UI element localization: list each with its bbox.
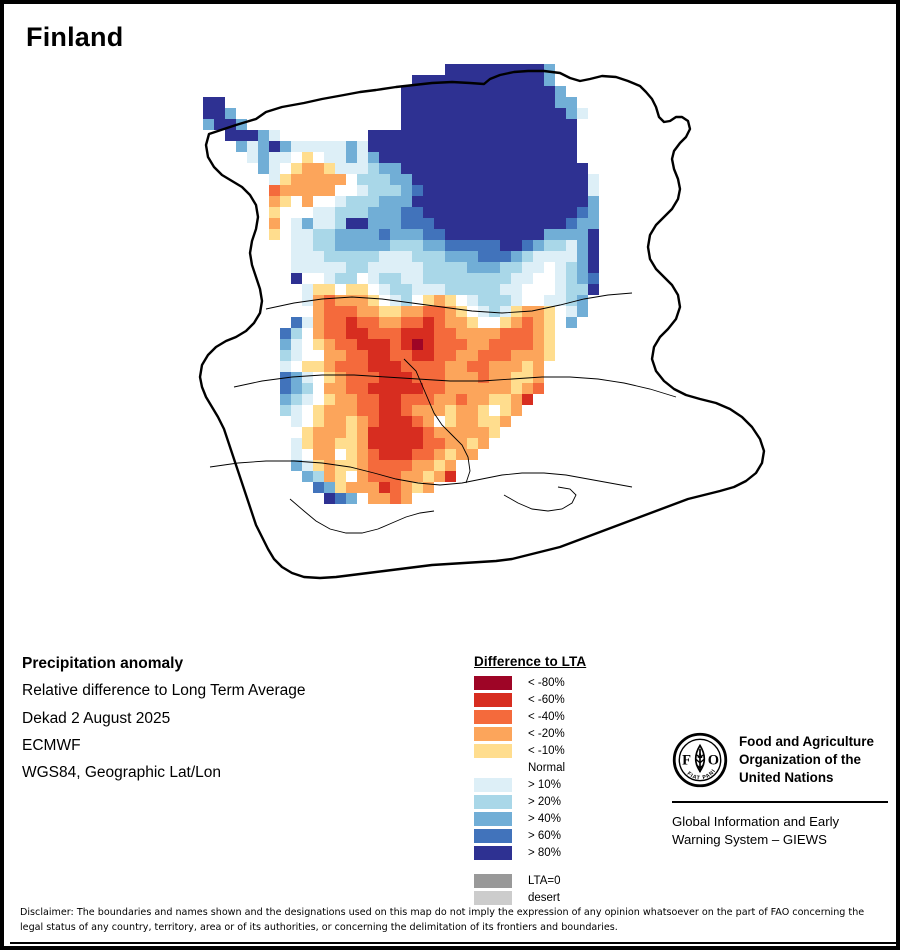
disclaimer-text: Disclaimer: The boundaries and names sho… bbox=[20, 906, 890, 935]
raster-cell bbox=[445, 75, 456, 86]
raster-cell bbox=[511, 152, 522, 163]
raster-cell bbox=[544, 130, 555, 141]
raster-cell bbox=[313, 383, 324, 394]
svg-text:A: A bbox=[697, 752, 703, 760]
raster-cell bbox=[390, 229, 401, 240]
raster-cell bbox=[379, 493, 390, 504]
raster-cell bbox=[511, 317, 522, 328]
raster-cell bbox=[423, 240, 434, 251]
raster-cell bbox=[335, 240, 346, 251]
raster-cell bbox=[456, 449, 467, 460]
raster-cell bbox=[324, 438, 335, 449]
raster-cell bbox=[434, 306, 445, 317]
raster-cell bbox=[324, 306, 335, 317]
legend-entry-swatch bbox=[474, 846, 512, 860]
raster-cell bbox=[313, 207, 324, 218]
raster-cell bbox=[445, 350, 456, 361]
raster-cell bbox=[401, 295, 412, 306]
raster-cell bbox=[368, 383, 379, 394]
raster-cell bbox=[313, 438, 324, 449]
raster-cell bbox=[423, 262, 434, 273]
raster-cell bbox=[280, 383, 291, 394]
raster-cell bbox=[467, 86, 478, 97]
raster-cell bbox=[445, 273, 456, 284]
raster-cell bbox=[445, 86, 456, 97]
raster-cell bbox=[544, 339, 555, 350]
raster-cell bbox=[302, 427, 313, 438]
raster-cell bbox=[379, 141, 390, 152]
raster-cell bbox=[478, 427, 489, 438]
raster-cell bbox=[555, 130, 566, 141]
raster-cell bbox=[401, 119, 412, 130]
raster-cell bbox=[291, 438, 302, 449]
raster-cell bbox=[401, 284, 412, 295]
raster-cell bbox=[291, 218, 302, 229]
raster-cell bbox=[335, 427, 346, 438]
raster-cell bbox=[390, 416, 401, 427]
raster-cell bbox=[291, 229, 302, 240]
raster-cell bbox=[346, 493, 357, 504]
raster-cell bbox=[434, 75, 445, 86]
raster-cell bbox=[379, 207, 390, 218]
raster-cell bbox=[302, 339, 313, 350]
raster-cell bbox=[412, 218, 423, 229]
raster-cell bbox=[544, 174, 555, 185]
raster-cell bbox=[500, 218, 511, 229]
raster-cell bbox=[555, 273, 566, 284]
raster-cell bbox=[401, 405, 412, 416]
raster-cell bbox=[357, 196, 368, 207]
raster-cell bbox=[412, 449, 423, 460]
legend-entry-row[interactable]: > 10% bbox=[474, 776, 634, 793]
raster-cell bbox=[280, 152, 291, 163]
raster-cell bbox=[291, 119, 302, 130]
legend-entry-label: < -80% bbox=[528, 677, 565, 689]
raster-cell bbox=[368, 460, 379, 471]
raster-cell bbox=[368, 394, 379, 405]
raster-cell bbox=[434, 174, 445, 185]
raster-cell bbox=[390, 130, 401, 141]
raster-cell bbox=[357, 240, 368, 251]
raster-cell bbox=[489, 251, 500, 262]
raster-cell bbox=[467, 251, 478, 262]
raster-cell bbox=[566, 317, 577, 328]
raster-cell bbox=[566, 152, 577, 163]
raster-cell bbox=[335, 295, 346, 306]
raster-cell bbox=[555, 240, 566, 251]
raster-cell bbox=[511, 405, 522, 416]
raster-cell bbox=[445, 218, 456, 229]
raster-cell bbox=[379, 460, 390, 471]
raster-cell bbox=[445, 229, 456, 240]
raster-cell bbox=[280, 185, 291, 196]
raster-cell bbox=[357, 273, 368, 284]
raster-cell bbox=[489, 229, 500, 240]
raster-cell bbox=[467, 108, 478, 119]
raster-cell bbox=[412, 273, 423, 284]
raster-cell bbox=[456, 130, 467, 141]
raster-cell bbox=[390, 317, 401, 328]
raster-cell bbox=[500, 295, 511, 306]
raster-cell bbox=[456, 438, 467, 449]
info-projection: WGS84, Geographic Lat/Lon bbox=[22, 765, 452, 781]
raster-cell bbox=[302, 152, 313, 163]
legend-entry-row[interactable]: > 20% bbox=[474, 793, 634, 810]
raster-cell bbox=[346, 284, 357, 295]
fao-org-line-1: Food and Agriculture bbox=[739, 733, 874, 751]
raster-cell bbox=[346, 482, 357, 493]
raster-cell bbox=[511, 119, 522, 130]
raster-cell bbox=[379, 185, 390, 196]
legend-entry-row[interactable]: < -40% bbox=[474, 708, 634, 725]
raster-cell bbox=[533, 262, 544, 273]
raster-cell bbox=[467, 350, 478, 361]
map-canvas[interactable] bbox=[4, 59, 900, 639]
raster-cell bbox=[511, 383, 522, 394]
raster-cell bbox=[412, 471, 423, 482]
raster-cell bbox=[368, 119, 379, 130]
raster-cell bbox=[401, 460, 412, 471]
raster-cell bbox=[500, 339, 511, 350]
raster-cell bbox=[511, 350, 522, 361]
raster-cell bbox=[390, 163, 401, 174]
raster-cell bbox=[544, 75, 555, 86]
raster-cell bbox=[423, 306, 434, 317]
raster-cell bbox=[324, 328, 335, 339]
raster-cell bbox=[379, 97, 390, 108]
raster-cell bbox=[258, 152, 269, 163]
raster-cell bbox=[456, 86, 467, 97]
raster-cell bbox=[544, 119, 555, 130]
raster-cell bbox=[412, 229, 423, 240]
legend-entry-row[interactable]: < -10% bbox=[474, 742, 634, 759]
legend-entry-row[interactable]: > 60% bbox=[474, 827, 634, 844]
legend-entry-row[interactable]: > 80% bbox=[474, 844, 634, 861]
raster-cell bbox=[533, 152, 544, 163]
raster-cell bbox=[412, 284, 423, 295]
raster-cell bbox=[357, 97, 368, 108]
raster-cell bbox=[368, 141, 379, 152]
raster-cell bbox=[302, 174, 313, 185]
raster-cell bbox=[456, 196, 467, 207]
raster-cell bbox=[434, 405, 445, 416]
raster-cell bbox=[346, 350, 357, 361]
raster-cell bbox=[269, 251, 280, 262]
raster-cell bbox=[489, 372, 500, 383]
raster-cell bbox=[236, 97, 247, 108]
raster-cell bbox=[489, 317, 500, 328]
raster-cell bbox=[335, 449, 346, 460]
raster-cell bbox=[379, 416, 390, 427]
raster-cell bbox=[357, 482, 368, 493]
raster-cell bbox=[467, 218, 478, 229]
info-source: ECMWF bbox=[22, 738, 452, 754]
raster-cell bbox=[412, 86, 423, 97]
raster-cell bbox=[555, 284, 566, 295]
raster-cell bbox=[478, 152, 489, 163]
raster-cell bbox=[357, 306, 368, 317]
raster-cell bbox=[412, 339, 423, 350]
raster-cell bbox=[533, 97, 544, 108]
raster-cell bbox=[379, 306, 390, 317]
raster-cell bbox=[533, 75, 544, 86]
raster-cell bbox=[478, 339, 489, 350]
raster-cell bbox=[478, 240, 489, 251]
raster-cell bbox=[258, 119, 269, 130]
raster-cell bbox=[302, 130, 313, 141]
raster-cell bbox=[258, 130, 269, 141]
raster-cell bbox=[456, 64, 467, 75]
raster-cell bbox=[291, 130, 302, 141]
raster-cell bbox=[544, 163, 555, 174]
raster-cell bbox=[445, 449, 456, 460]
raster-cell bbox=[511, 372, 522, 383]
raster-cell bbox=[390, 218, 401, 229]
fao-branding: F O A FIAT PANIS Food and Agriculture Or… bbox=[672, 732, 888, 849]
raster-cell bbox=[324, 152, 335, 163]
legend-entry-row[interactable]: Normal bbox=[474, 759, 634, 776]
legend-entry-row[interactable]: > 40% bbox=[474, 810, 634, 827]
raster-cell bbox=[544, 196, 555, 207]
raster-cell bbox=[555, 251, 566, 262]
raster-cell bbox=[346, 141, 357, 152]
legend-entry-label: Normal bbox=[528, 762, 565, 774]
raster-cell bbox=[467, 119, 478, 130]
raster-cell bbox=[555, 86, 566, 97]
raster-cell bbox=[445, 119, 456, 130]
raster-cell bbox=[412, 262, 423, 273]
legend-entry-row[interactable]: < -20% bbox=[474, 725, 634, 742]
raster-cell bbox=[423, 284, 434, 295]
raster-cell bbox=[280, 339, 291, 350]
raster-cell bbox=[390, 174, 401, 185]
raster-cell bbox=[467, 317, 478, 328]
raster-cell bbox=[533, 207, 544, 218]
raster-cell bbox=[412, 240, 423, 251]
raster-cell bbox=[467, 141, 478, 152]
info-heading: Precipitation anomaly bbox=[22, 656, 452, 672]
raster-cell bbox=[522, 262, 533, 273]
raster-cell bbox=[489, 416, 500, 427]
raster-cell bbox=[489, 185, 500, 196]
raster-cell bbox=[467, 174, 478, 185]
raster-cell bbox=[291, 416, 302, 427]
raster-cell bbox=[577, 251, 588, 262]
raster-cell bbox=[566, 207, 577, 218]
raster-cell bbox=[357, 141, 368, 152]
raster-cell bbox=[346, 119, 357, 130]
raster-cell bbox=[500, 317, 511, 328]
raster-cell bbox=[478, 229, 489, 240]
raster-cell bbox=[511, 295, 522, 306]
raster-cell bbox=[467, 284, 478, 295]
raster-cell bbox=[280, 174, 291, 185]
raster-cell bbox=[346, 130, 357, 141]
raster-cell bbox=[423, 328, 434, 339]
finland-anomaly-map[interactable] bbox=[4, 59, 900, 639]
raster-cell bbox=[346, 394, 357, 405]
raster-cell bbox=[500, 361, 511, 372]
raster-cell bbox=[445, 339, 456, 350]
raster-cell bbox=[368, 372, 379, 383]
raster-cell bbox=[434, 218, 445, 229]
raster-cell bbox=[324, 251, 335, 262]
page-title: Finland bbox=[26, 22, 123, 53]
raster-cell bbox=[335, 284, 346, 295]
raster-cell bbox=[456, 119, 467, 130]
raster-cell bbox=[500, 75, 511, 86]
raster-cell bbox=[357, 174, 368, 185]
legend-extra-list: LTA=0desert bbox=[474, 872, 634, 906]
raster-cell bbox=[291, 174, 302, 185]
raster-cell bbox=[368, 416, 379, 427]
raster-cell bbox=[423, 218, 434, 229]
raster-cell bbox=[423, 119, 434, 130]
raster-cell bbox=[324, 141, 335, 152]
raster-cell bbox=[522, 185, 533, 196]
raster-cell bbox=[456, 350, 467, 361]
raster-cell bbox=[577, 185, 588, 196]
raster-cell bbox=[302, 262, 313, 273]
raster-cell bbox=[335, 152, 346, 163]
legend-extra-row[interactable]: desert bbox=[474, 889, 634, 906]
raster-cell bbox=[533, 317, 544, 328]
raster-cell bbox=[302, 141, 313, 152]
raster-cell bbox=[324, 174, 335, 185]
raster-cell bbox=[368, 108, 379, 119]
raster-cell bbox=[368, 130, 379, 141]
raster-cell bbox=[478, 416, 489, 427]
legend-extra-row[interactable]: LTA=0 bbox=[474, 872, 634, 889]
raster-cell bbox=[357, 471, 368, 482]
raster-cell bbox=[555, 262, 566, 273]
raster-cell bbox=[522, 207, 533, 218]
raster-cell bbox=[368, 328, 379, 339]
raster-cell bbox=[511, 174, 522, 185]
raster-cell bbox=[544, 317, 555, 328]
raster-cell bbox=[357, 449, 368, 460]
raster-cell bbox=[335, 174, 346, 185]
raster-cell bbox=[291, 361, 302, 372]
raster-cell bbox=[478, 64, 489, 75]
raster-cell bbox=[313, 361, 324, 372]
raster-cell bbox=[489, 284, 500, 295]
legend-entry-label: < -40% bbox=[528, 711, 565, 723]
raster-cell bbox=[401, 361, 412, 372]
raster-cell bbox=[478, 383, 489, 394]
raster-cell bbox=[346, 405, 357, 416]
raster-cell bbox=[335, 339, 346, 350]
raster-cell bbox=[302, 471, 313, 482]
raster-cell bbox=[434, 427, 445, 438]
raster-cell bbox=[291, 339, 302, 350]
legend-entry-swatch bbox=[474, 693, 512, 707]
raster-cell bbox=[445, 97, 456, 108]
raster-cell bbox=[390, 471, 401, 482]
raster-cell bbox=[390, 251, 401, 262]
raster-cell bbox=[445, 460, 456, 471]
raster-cell bbox=[423, 108, 434, 119]
raster-cell bbox=[577, 240, 588, 251]
raster-cell bbox=[335, 383, 346, 394]
raster-cell bbox=[478, 86, 489, 97]
legend-entry-label: > 10% bbox=[528, 779, 561, 791]
raster-cell bbox=[478, 350, 489, 361]
raster-cell bbox=[478, 207, 489, 218]
raster-cell bbox=[324, 372, 335, 383]
legend-entry-row[interactable]: < -80% bbox=[474, 674, 634, 691]
raster-cell bbox=[478, 405, 489, 416]
raster-cell bbox=[522, 152, 533, 163]
raster-cell bbox=[313, 218, 324, 229]
raster-cell bbox=[434, 130, 445, 141]
raster-cell bbox=[368, 229, 379, 240]
raster-cell bbox=[280, 108, 291, 119]
raster-cell bbox=[335, 317, 346, 328]
raster-anomaly-grid bbox=[203, 64, 599, 504]
raster-cell bbox=[555, 185, 566, 196]
raster-cell bbox=[522, 361, 533, 372]
raster-cell bbox=[533, 86, 544, 97]
raster-cell bbox=[423, 383, 434, 394]
raster-cell bbox=[346, 251, 357, 262]
raster-cell bbox=[456, 97, 467, 108]
raster-cell bbox=[544, 350, 555, 361]
raster-cell bbox=[445, 383, 456, 394]
raster-cell bbox=[445, 317, 456, 328]
raster-cell bbox=[577, 174, 588, 185]
raster-cell bbox=[511, 196, 522, 207]
raster-cell bbox=[313, 229, 324, 240]
raster-cell bbox=[500, 185, 511, 196]
raster-cell bbox=[445, 174, 456, 185]
raster-cell bbox=[401, 427, 412, 438]
raster-cell bbox=[368, 449, 379, 460]
raster-cell bbox=[302, 207, 313, 218]
raster-cell bbox=[533, 295, 544, 306]
raster-cell bbox=[544, 262, 555, 273]
raster-cell bbox=[445, 284, 456, 295]
raster-cell bbox=[401, 339, 412, 350]
legend-entry-row[interactable]: < -60% bbox=[474, 691, 634, 708]
raster-cell bbox=[346, 108, 357, 119]
raster-cell bbox=[522, 174, 533, 185]
raster-cell bbox=[313, 449, 324, 460]
raster-cell bbox=[434, 372, 445, 383]
raster-cell bbox=[588, 273, 599, 284]
raster-cell bbox=[258, 97, 269, 108]
raster-cell bbox=[346, 449, 357, 460]
raster-cell bbox=[313, 262, 324, 273]
raster-cell bbox=[478, 317, 489, 328]
raster-cell bbox=[247, 141, 258, 152]
raster-cell bbox=[379, 361, 390, 372]
raster-cell bbox=[533, 350, 544, 361]
raster-cell bbox=[489, 383, 500, 394]
raster-cell bbox=[445, 295, 456, 306]
raster-cell bbox=[346, 196, 357, 207]
raster-cell bbox=[335, 350, 346, 361]
raster-cell bbox=[588, 251, 599, 262]
raster-cell bbox=[511, 361, 522, 372]
raster-cell bbox=[313, 350, 324, 361]
raster-cell bbox=[478, 108, 489, 119]
legend-entry-swatch bbox=[474, 676, 512, 690]
raster-cell bbox=[247, 152, 258, 163]
raster-cell bbox=[346, 460, 357, 471]
raster-cell bbox=[335, 141, 346, 152]
raster-cell bbox=[412, 317, 423, 328]
